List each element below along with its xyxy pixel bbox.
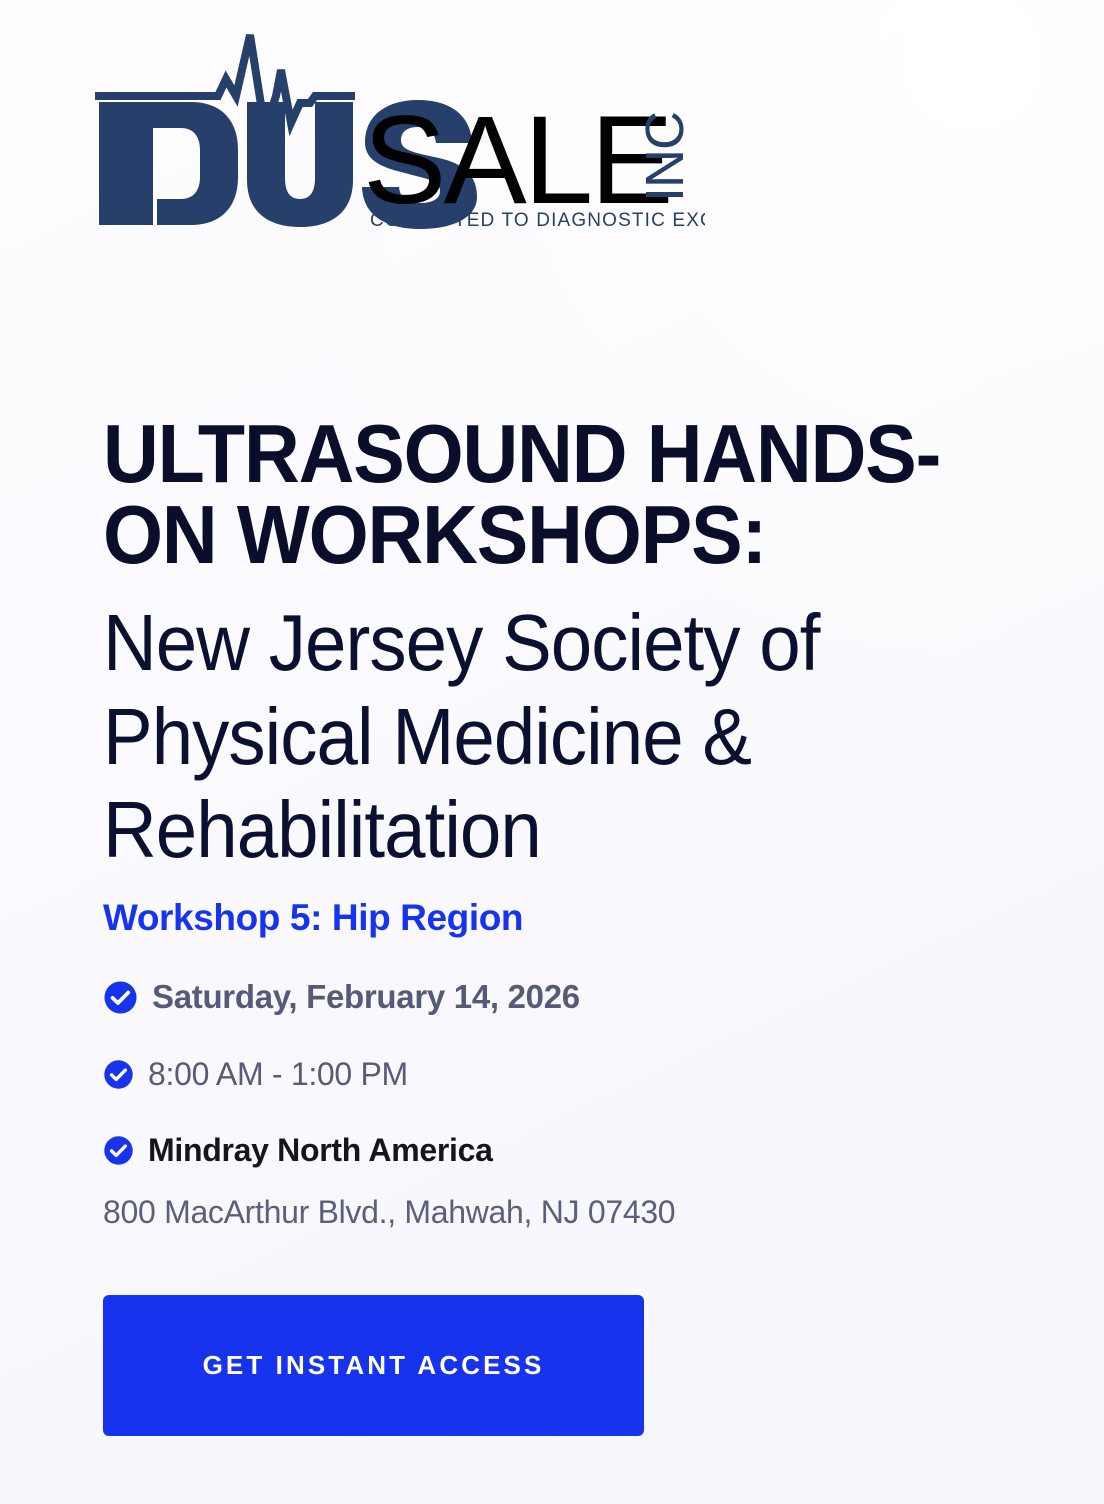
landing-page: SALE INC COMMITTED TO DIAGNOSTIC EXCELLE… <box>0 0 1104 1504</box>
detail-row-date: Saturday, February 14, 2026 <box>103 978 580 1016</box>
page-subtitle: New Jersey Society of Physical Medicine … <box>103 596 1010 877</box>
logo-suffix-inc: INC <box>635 112 695 202</box>
detail-row-venue: Mindray North America <box>103 1132 493 1169</box>
event-date: Saturday, February 14, 2026 <box>152 978 580 1016</box>
venue-address: 800 MacArthur Blvd., Mahwah, NJ 07430 <box>103 1194 675 1231</box>
venue-name: Mindray North America <box>148 1132 493 1169</box>
event-time: 8:00 AM - 1:00 PM <box>148 1056 408 1093</box>
check-circle-icon <box>103 1059 134 1090</box>
dus-sale-inc-logo-graphic: SALE INC COMMITTED TO DIAGNOSTIC EXCELLE… <box>95 30 705 235</box>
detail-row-time: 8:00 AM - 1:00 PM <box>103 1056 408 1093</box>
logo-tagline: COMMITTED TO DIAGNOSTIC EXCELLENCE <box>370 210 705 231</box>
get-instant-access-button[interactable]: GET INSTANT ACCESS <box>103 1295 644 1436</box>
check-circle-icon <box>103 1135 134 1166</box>
company-logo: SALE INC COMMITTED TO DIAGNOSTIC EXCELLE… <box>95 30 705 235</box>
page-title: ULTRASOUND HANDS-ON WORKSHOPS: <box>103 413 1010 576</box>
workshop-label: Workshop 5: Hip Region <box>103 897 523 939</box>
check-circle-icon <box>103 980 138 1015</box>
